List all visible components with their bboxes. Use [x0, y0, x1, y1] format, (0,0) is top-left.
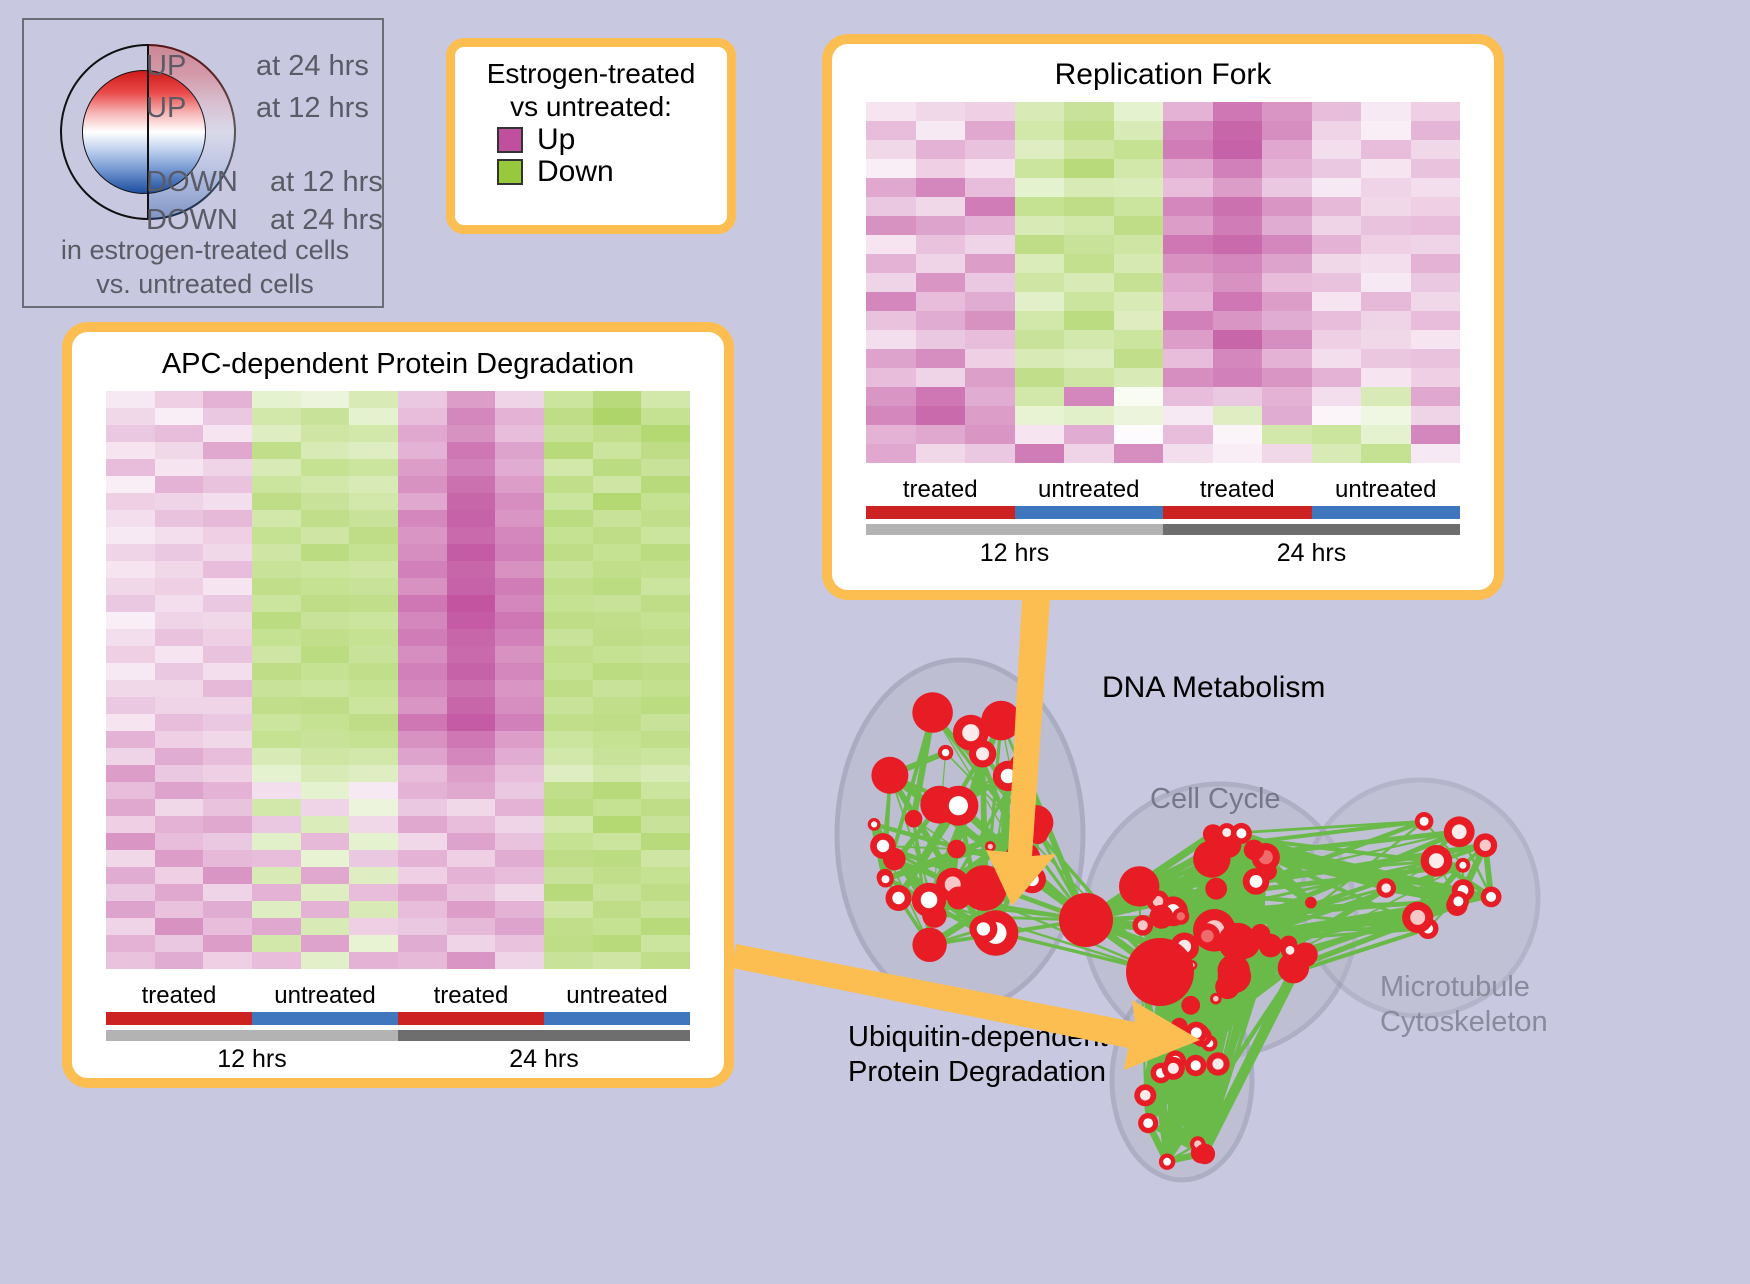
- treatment-label: treated: [866, 477, 1015, 503]
- heatmap-cell: [301, 918, 350, 935]
- heatmap-cell: [203, 578, 252, 595]
- heatmap-cell: [641, 646, 690, 663]
- heatmap-cell: [916, 197, 966, 216]
- heatmap-cell: [916, 178, 966, 197]
- heatmap-cell: [252, 884, 301, 901]
- heatmap-cell: [349, 850, 398, 867]
- heatmap-cell: [203, 918, 252, 935]
- network-node-core: [1213, 996, 1219, 1002]
- network-node[interactable]: [1205, 878, 1227, 900]
- network-node-core: [1143, 1118, 1153, 1128]
- network-node[interactable]: [1195, 1144, 1216, 1165]
- treatment-label: untreated: [544, 983, 690, 1009]
- heatmap-cell: [398, 765, 447, 782]
- heatmap-cell: [252, 646, 301, 663]
- heatmap-cell: [1064, 349, 1114, 368]
- treatment-bar-segment: [544, 1012, 690, 1025]
- heatmap-cell: [1312, 368, 1362, 387]
- network-node[interactable]: [1195, 923, 1220, 948]
- network-node[interactable]: [1473, 833, 1497, 857]
- cluster-label-cytoskeleton-line2: Cytoskeleton: [1380, 1005, 1548, 1040]
- heatmap-cell: [544, 697, 593, 714]
- heatmap-cell: [1361, 254, 1411, 273]
- heatmap-cell: [641, 952, 690, 969]
- network-node[interactable]: [871, 757, 908, 794]
- heatmap-cell: [544, 816, 593, 833]
- heatmap-cell: [155, 748, 204, 765]
- heatmap-cell: [155, 663, 204, 680]
- heatmap-cell: [447, 748, 496, 765]
- heatmap-cell: [1213, 121, 1263, 140]
- heatmap-cell: [1361, 121, 1411, 140]
- heatmap-cell: [1361, 292, 1411, 311]
- heatmap-cell: [398, 680, 447, 697]
- heatmap-cell: [544, 833, 593, 850]
- heatmap-cell: [301, 459, 350, 476]
- heatmap-cell: [349, 918, 398, 935]
- panel-replication-fork: Replication Fork treateduntreatedtreated…: [822, 34, 1504, 600]
- heatmap-cell: [106, 765, 155, 782]
- heatmap-cell: [155, 646, 204, 663]
- heatmap-cell: [593, 850, 642, 867]
- network-node[interactable]: [912, 692, 953, 733]
- heatmap-cell: [301, 901, 350, 918]
- heatmap-cell: [866, 254, 916, 273]
- heatmap-cell: [641, 612, 690, 629]
- heatmap-cell: [106, 578, 155, 595]
- heatmap-cell: [916, 444, 966, 463]
- heatmap-cell: [106, 425, 155, 442]
- heatmap-cell: [495, 935, 544, 952]
- heatmap-cell: [301, 765, 350, 782]
- heatmap-cell: [866, 349, 916, 368]
- heatmap-cell: [1163, 121, 1213, 140]
- network-node[interactable]: [1305, 897, 1317, 909]
- treatment-bar-segment: [106, 1012, 252, 1025]
- heatmap-cell: [447, 782, 496, 799]
- network-node[interactable]: [1119, 866, 1159, 906]
- network-node[interactable]: [1421, 845, 1453, 877]
- heatmap-cell: [495, 612, 544, 629]
- heatmap-cell: [106, 544, 155, 561]
- heatmap-cell: [1064, 273, 1114, 292]
- heatmap-cell: [544, 867, 593, 884]
- network-node-core: [942, 749, 949, 756]
- heatmap-cell: [1213, 178, 1263, 197]
- treatment-bar-segment: [866, 506, 1015, 519]
- heatmap-cell: [447, 612, 496, 629]
- heatmap-cell: [495, 918, 544, 935]
- network-node[interactable]: [1376, 878, 1396, 898]
- network-node[interactable]: [1218, 923, 1257, 962]
- heatmap-cell: [1015, 121, 1065, 140]
- heatmap-cell: [349, 493, 398, 510]
- heatmap-cell: [641, 867, 690, 884]
- heatmap-cell: [1064, 330, 1114, 349]
- heatmap-cell: [252, 833, 301, 850]
- heatmap-cell: [349, 629, 398, 646]
- heatmap-cell: [447, 595, 496, 612]
- network-node[interactable]: [1251, 924, 1271, 944]
- network-node[interactable]: [1448, 891, 1469, 912]
- network-node-core: [1382, 883, 1391, 892]
- heatmap-cell: [593, 612, 642, 629]
- heatmap-cell: [1262, 311, 1312, 330]
- heatmap-cell: [1114, 140, 1164, 159]
- heatmap-cell: [106, 442, 155, 459]
- time-label: 12 hrs: [106, 1045, 398, 1074]
- heatmap-cell: [398, 918, 447, 935]
- network-node-core: [871, 821, 877, 827]
- heatmap-cell: [155, 935, 204, 952]
- heatmap-cell: [641, 578, 690, 595]
- heatmap-cell: [1361, 368, 1411, 387]
- heatmap-cell: [301, 595, 350, 612]
- heatmap-cell: [495, 408, 544, 425]
- heatmap-cell: [106, 697, 155, 714]
- network-node[interactable]: [947, 887, 970, 910]
- heatmap-cell: [544, 663, 593, 680]
- updown-legend-card: Estrogen-treated vs untreated: Up Down: [446, 38, 736, 234]
- heatmap-cell: [203, 731, 252, 748]
- heatmap-cell: [301, 697, 350, 714]
- heatmap-cell: [593, 510, 642, 527]
- heatmap-cell: [593, 748, 642, 765]
- heatmap-cell: [301, 782, 350, 799]
- heatmap-cell: [1114, 159, 1164, 178]
- heatmap-cell: [641, 561, 690, 578]
- heatmap-cell: [155, 714, 204, 731]
- heatmap-cell: [1114, 216, 1164, 235]
- wheel-label-down-24: DOWN: [146, 206, 238, 235]
- network-node[interactable]: [969, 740, 996, 767]
- heatmap-cell: [1163, 178, 1213, 197]
- heatmap-cell: [1015, 406, 1065, 425]
- heatmap-cell: [641, 544, 690, 561]
- heatmap-cell: [1015, 216, 1065, 235]
- heatmap-cell: [866, 387, 916, 406]
- heatmap-cell: [1361, 159, 1411, 178]
- network-node[interactable]: [912, 928, 946, 962]
- heatmap-cell: [1015, 178, 1065, 197]
- time-bar-segment: [866, 524, 1163, 535]
- heatmap-cell: [252, 459, 301, 476]
- heatmap-cell: [866, 368, 916, 387]
- heatmap-cell: [1262, 406, 1312, 425]
- network-node[interactable]: [938, 745, 953, 760]
- heatmap-cell: [106, 629, 155, 646]
- heatmap-cell: [544, 765, 593, 782]
- network-node[interactable]: [1159, 1154, 1175, 1170]
- time-label-row-apc: 12 hrs24 hrs: [106, 1045, 690, 1074]
- network-node[interactable]: [877, 871, 894, 888]
- heatmap-cell: [349, 595, 398, 612]
- heatmap-cell: [544, 952, 593, 969]
- heatmap-cell: [1114, 368, 1164, 387]
- network-node[interactable]: [1444, 816, 1475, 847]
- heatmap-cell: [495, 578, 544, 595]
- heatmap-cell: [155, 833, 204, 850]
- wheel-time-up-24: at 24 hrs: [256, 52, 369, 81]
- network-node-core: [962, 724, 979, 741]
- heatmap-cell: [1213, 444, 1263, 463]
- heatmap-cell: [398, 850, 447, 867]
- network-node[interactable]: [1210, 993, 1222, 1005]
- heatmap-cell: [398, 425, 447, 442]
- network-node[interactable]: [1185, 1022, 1207, 1044]
- network-node[interactable]: [1456, 858, 1471, 873]
- heatmap-cell: [544, 714, 593, 731]
- heatmap-cell: [203, 680, 252, 697]
- heatmap-cell: [398, 391, 447, 408]
- heatmap-cell: [1213, 292, 1263, 311]
- network-node[interactable]: [1206, 1052, 1229, 1075]
- heatmap-cell: [252, 714, 301, 731]
- heatmap-cell: [203, 561, 252, 578]
- heatmap-cell: [593, 544, 642, 561]
- heatmap-cell: [965, 197, 1015, 216]
- heatmap-cell: [495, 544, 544, 561]
- heatmap-cell: [965, 121, 1015, 140]
- heatmap-cell: [866, 197, 916, 216]
- heatmap-cell: [1163, 159, 1213, 178]
- treatment-bar-segment: [1312, 506, 1461, 519]
- heatmap-cell: [641, 731, 690, 748]
- heatmap-cell: [155, 731, 204, 748]
- heatmap-cell: [1262, 178, 1312, 197]
- network-node[interactable]: [985, 841, 996, 852]
- heatmap-cell: [398, 697, 447, 714]
- heatmap-cell: [866, 140, 916, 159]
- heatmap-cell: [349, 935, 398, 952]
- heatmap-cell: [1312, 121, 1362, 140]
- network-node-core: [1486, 892, 1496, 902]
- network-node[interactable]: [981, 701, 1021, 741]
- heatmap-cell: [447, 816, 496, 833]
- heatmap-cell: [641, 697, 690, 714]
- heatmap-cell: [495, 748, 544, 765]
- heatmap-cell: [398, 748, 447, 765]
- heatmap-cell: [106, 612, 155, 629]
- heatmap-cell: [1015, 140, 1065, 159]
- heatmap-cell: [495, 527, 544, 544]
- heatmap-cell: [447, 459, 496, 476]
- heatmap-cell: [1213, 349, 1263, 368]
- heatmap-cell: [155, 493, 204, 510]
- heatmap-cell: [965, 444, 1015, 463]
- network-node[interactable]: [938, 786, 978, 826]
- heatmap-cell: [1163, 349, 1213, 368]
- network-node[interactable]: [1402, 902, 1433, 933]
- heatmap-cell: [965, 292, 1015, 311]
- heatmap-cell: [593, 527, 642, 544]
- network-node[interactable]: [1059, 893, 1113, 947]
- heatmap-cell: [1411, 102, 1461, 121]
- network-node[interactable]: [947, 840, 966, 859]
- heatmap-cell: [155, 510, 204, 527]
- heatmap-cell: [1064, 444, 1114, 463]
- cluster-label-cell-cycle: Cell Cycle: [1150, 782, 1281, 817]
- cluster-label-ubiquitin-line2: Protein Degradation: [848, 1055, 1108, 1090]
- treatment-label-row-replication: treateduntreatedtreateduntreated: [866, 477, 1460, 503]
- heatmap-cell: [301, 646, 350, 663]
- heatmap-cell: [349, 731, 398, 748]
- heatmap-cell: [495, 952, 544, 969]
- heatmap-cell: [1262, 387, 1312, 406]
- heatmap-cell: [593, 476, 642, 493]
- heatmap-cell: [1114, 254, 1164, 273]
- heatmap-cell: [965, 349, 1015, 368]
- network-node[interactable]: [1018, 805, 1053, 840]
- heatmap-cell: [349, 527, 398, 544]
- heatmap-cell: [301, 833, 350, 850]
- heatmap-cell: [155, 527, 204, 544]
- heatmap-cell: [495, 680, 544, 697]
- network-node[interactable]: [1281, 941, 1299, 959]
- heatmap-replication-fork: [866, 102, 1460, 463]
- heatmap-cell: [349, 782, 398, 799]
- heatmap-cell: [398, 527, 447, 544]
- heatmap-cell: [593, 884, 642, 901]
- network-node[interactable]: [1126, 938, 1194, 1006]
- heatmap-cell: [106, 646, 155, 663]
- wheel-label-up-12: UP: [146, 94, 186, 123]
- heatmap-cell: [1064, 292, 1114, 311]
- network-node[interactable]: [1415, 812, 1434, 831]
- network-node[interactable]: [969, 915, 997, 943]
- heatmap-cell: [641, 459, 690, 476]
- heatmap-cell: [203, 408, 252, 425]
- time-bar-segment: [106, 1030, 398, 1041]
- heatmap-cell: [447, 799, 496, 816]
- heatmap-cell: [1361, 406, 1411, 425]
- network-node[interactable]: [1162, 1057, 1185, 1080]
- treatment-label: treated: [398, 983, 544, 1009]
- heatmap-cell: [495, 799, 544, 816]
- heatmap-cell: [641, 493, 690, 510]
- network-node[interactable]: [1018, 866, 1046, 894]
- network-node[interactable]: [1138, 1113, 1158, 1133]
- heatmap-cell: [1411, 159, 1461, 178]
- heatmap-cell: [866, 425, 916, 444]
- heatmap-cell: [155, 680, 204, 697]
- treatment-label-row-apc: treateduntreatedtreateduntreated: [106, 983, 690, 1009]
- heatmap-cell: [641, 850, 690, 867]
- heatmap-cell: [916, 349, 966, 368]
- heatmap-cell: [495, 493, 544, 510]
- heatmap-cell: [1163, 197, 1213, 216]
- heatmap-cell: [252, 442, 301, 459]
- network-node-core: [1452, 824, 1467, 839]
- wheel-time-down-12: at 12 hrs: [270, 168, 383, 197]
- heatmap-cell: [301, 391, 350, 408]
- heatmap-cell: [544, 731, 593, 748]
- heatmap-cell: [1064, 425, 1114, 444]
- heatmap-cell: [1312, 235, 1362, 254]
- heatmap-cell: [398, 901, 447, 918]
- network-node[interactable]: [1172, 908, 1189, 925]
- heatmap-cell: [203, 833, 252, 850]
- heatmap-cell: [1114, 349, 1164, 368]
- heatmap-cell: [252, 765, 301, 782]
- heatmap-cell: [106, 714, 155, 731]
- heatmap-cell: [155, 918, 204, 935]
- heatmap-cell: [916, 216, 966, 235]
- heatmap-cell: [593, 901, 642, 918]
- network-node[interactable]: [868, 818, 881, 831]
- legend-item-up: Up: [497, 125, 727, 155]
- network-node[interactable]: [1231, 823, 1252, 844]
- heatmap-cell: [301, 748, 350, 765]
- network-node[interactable]: [870, 833, 896, 859]
- heatmap-cell: [106, 476, 155, 493]
- heatmap-cell: [916, 425, 966, 444]
- network-node[interactable]: [993, 761, 1023, 791]
- network-node[interactable]: [1481, 887, 1502, 908]
- heatmap-cell: [1262, 330, 1312, 349]
- network-node[interactable]: [1171, 1018, 1188, 1035]
- network-node[interactable]: [1181, 996, 1200, 1015]
- heatmap-cell: [593, 714, 642, 731]
- heatmap-cell: [641, 884, 690, 901]
- heatmap-cell: [155, 408, 204, 425]
- network-node-core: [1459, 862, 1466, 869]
- heatmap-cell: [252, 391, 301, 408]
- heatmap-cell: [641, 595, 690, 612]
- heatmap-cell: [593, 680, 642, 697]
- network-node[interactable]: [1193, 840, 1230, 877]
- heatmap-cell: [495, 850, 544, 867]
- heatmap-cell: [641, 816, 690, 833]
- heatmap-cell: [252, 612, 301, 629]
- heatmap-cell: [106, 391, 155, 408]
- heatmap-cell: [1262, 235, 1312, 254]
- heatmap-cell: [916, 387, 966, 406]
- network-node[interactable]: [905, 810, 923, 828]
- heatmap-cell: [349, 425, 398, 442]
- network-node[interactable]: [1218, 960, 1251, 993]
- heatmap-cell: [203, 697, 252, 714]
- network-node[interactable]: [1150, 1034, 1169, 1053]
- time-label: 12 hrs: [866, 539, 1163, 568]
- network-node[interactable]: [1244, 840, 1265, 861]
- network-node[interactable]: [1133, 915, 1154, 936]
- network-node[interactable]: [1185, 1055, 1206, 1076]
- heatmap-cell: [641, 391, 690, 408]
- heatmap-cell: [593, 799, 642, 816]
- heatmap-cell: [1064, 406, 1114, 425]
- network-node[interactable]: [886, 885, 912, 911]
- heatmap-cell: [349, 867, 398, 884]
- heatmap-cell: [1411, 368, 1461, 387]
- network-node-core: [1429, 853, 1444, 868]
- figure-root: UP at 24 hrs UP at 12 hrs DOWN at 12 hrs…: [0, 0, 1750, 1279]
- network-node[interactable]: [1134, 1084, 1156, 1106]
- time-bar-segment: [398, 1030, 690, 1041]
- heatmap-cell: [398, 816, 447, 833]
- heatmap-cell: [203, 867, 252, 884]
- heatmap-cell: [155, 901, 204, 918]
- network-node-core: [1480, 840, 1491, 851]
- network-node[interactable]: [912, 883, 946, 917]
- heatmap-cell: [1064, 311, 1114, 330]
- heatmap-cell: [301, 680, 350, 697]
- heatmap-cell: [301, 408, 350, 425]
- heatmap-cell: [155, 782, 204, 799]
- heatmap-cell: [916, 159, 966, 178]
- heatmap-cell: [349, 663, 398, 680]
- heatmap-cell: [1064, 140, 1114, 159]
